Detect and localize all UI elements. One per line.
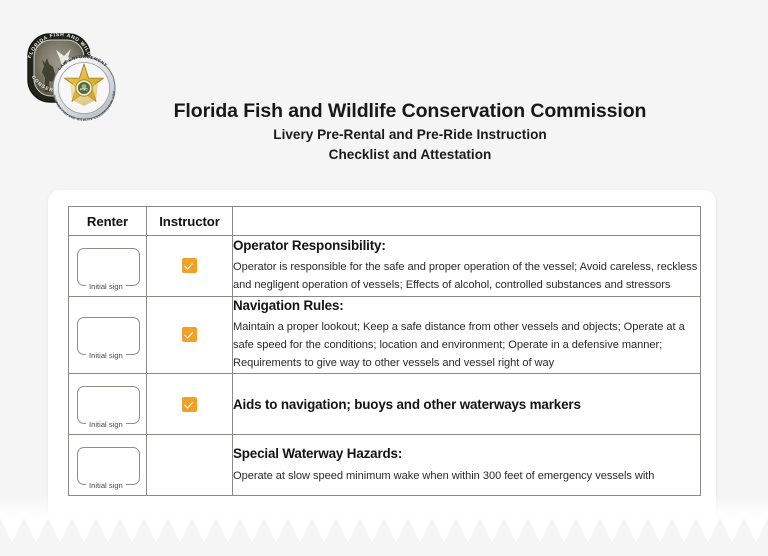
topic-body: Operate at slow speed minimum wake when … <box>233 468 700 486</box>
topic-body: Operator is responsible for the safe and… <box>233 259 700 295</box>
page-subtitle-line2: Checklist and Attestation <box>130 147 690 164</box>
instructor-cell[interactable] <box>147 297 233 374</box>
instructor-checkbox[interactable] <box>182 327 197 342</box>
title-block: Florida Fish and Wildlife Conservation C… <box>130 100 690 164</box>
table-row: Initial sign Special Waterway Hazards: O… <box>69 435 701 496</box>
topic-title: Special Waterway Hazards: <box>233 445 700 462</box>
page-subtitle-line1: Livery Pre-Rental and Pre-Ride Instructi… <box>130 127 690 144</box>
table-row: Initial sign Operator Responsibility: Op… <box>69 236 701 297</box>
checklist-card: Renter Instructor Initial sign <box>48 190 716 520</box>
page-title: Florida Fish and Wildlife Conservation C… <box>130 100 690 123</box>
instructor-cell[interactable] <box>147 374 233 435</box>
checklist-table: Renter Instructor Initial sign <box>68 206 701 496</box>
topic-cell: Aids to navigation; buoys and other wate… <box>233 374 701 435</box>
fwc-logo: FLORIDA FISH AND WILDLIFE CONSERVATION <box>18 22 122 126</box>
column-header-topic <box>233 207 701 236</box>
table-row: Initial sign Navigation Rules: Maintain … <box>69 297 701 374</box>
topic-cell: Operator Responsibility: Operator is res… <box>233 236 701 297</box>
column-header-renter: Renter <box>69 207 147 236</box>
initial-sign-field[interactable]: Initial sign <box>77 248 140 286</box>
topic-title: Operator Responsibility: <box>233 237 700 254</box>
instructor-checkbox[interactable] <box>182 258 197 273</box>
table-header-row: Renter Instructor <box>69 207 701 236</box>
initial-sign-field[interactable]: Initial sign <box>77 386 140 424</box>
initial-sign-field[interactable]: Initial sign <box>77 317 140 355</box>
renter-cell: Initial sign <box>69 435 147 496</box>
document-page: FLORIDA FISH AND WILDLIFE CONSERVATION <box>0 0 768 556</box>
renter-cell: Initial sign <box>69 297 147 374</box>
fwc-logo-svg: FLORIDA FISH AND WILDLIFE CONSERVATION <box>18 22 122 126</box>
topic-body: Maintain a proper lookout; Keep a safe d… <box>233 319 700 373</box>
renter-cell: Initial sign <box>69 236 147 297</box>
topic-title: Aids to navigation; buoys and other wate… <box>233 396 700 413</box>
instructor-cell[interactable] <box>147 236 233 297</box>
torn-paper-zigzag <box>0 518 768 542</box>
initial-sign-label: Initial sign <box>86 281 126 292</box>
document-header: FLORIDA FISH AND WILDLIFE CONSERVATION <box>0 0 768 190</box>
instructor-cell[interactable] <box>147 435 233 496</box>
instructor-checkbox[interactable] <box>182 397 197 412</box>
topic-cell: Navigation Rules: Maintain a proper look… <box>233 297 701 374</box>
initial-sign-label: Initial sign <box>86 480 126 491</box>
checklist-table-body: Initial sign Operator Responsibility: Op… <box>69 236 701 496</box>
topic-cell: Special Waterway Hazards: Operate at slo… <box>233 435 701 496</box>
topic-title: Navigation Rules: <box>233 297 700 314</box>
checklist-table-scroll[interactable]: Renter Instructor Initial sign <box>68 206 700 496</box>
renter-cell: Initial sign <box>69 374 147 435</box>
initial-sign-label: Initial sign <box>86 350 126 361</box>
badge-center-text: FWC <box>80 88 88 92</box>
initial-sign-field[interactable]: Initial sign <box>77 447 140 485</box>
table-row: Initial sign Aids to navigation; buoys a… <box>69 374 701 435</box>
initial-sign-label: Initial sign <box>86 419 126 430</box>
column-header-instructor: Instructor <box>147 207 233 236</box>
torn-paper-edge <box>0 518 768 556</box>
checklist-table-head: Renter Instructor <box>69 207 701 236</box>
